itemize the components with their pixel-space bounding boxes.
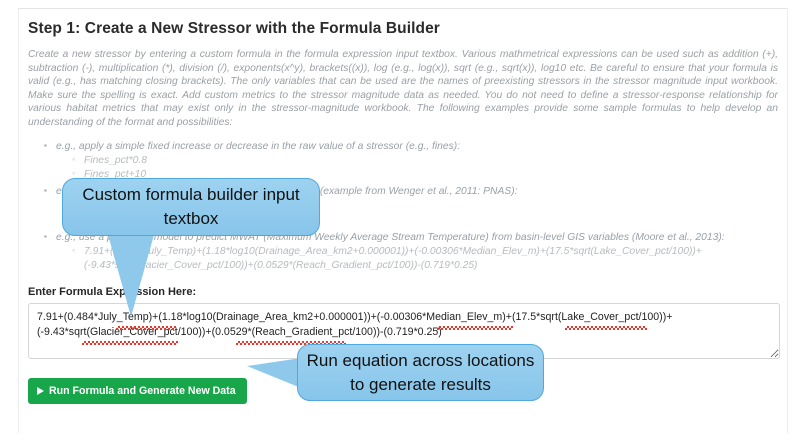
example-group-1: e.g., apply a simple fixed increase or d… (56, 140, 780, 182)
screenshot-root: Step 1: Create a New Stressor with the F… (0, 0, 805, 447)
page-title: Step 1: Create a New Stressor with the F… (28, 20, 780, 38)
callout-run-equation: Run equation across locations to generat… (297, 344, 544, 401)
run-formula-button-label: Run Formula and Generate New Data (49, 385, 236, 397)
example-items-1: Fines_pct*0.8 Fines_pct+10 (56, 154, 780, 181)
callout-formula-input: Custom formula builder input textbox (62, 178, 320, 236)
play-icon (37, 387, 44, 395)
list-item: 7.91+(0.484*July_Temp)+(1.18*log10(Drain… (84, 245, 780, 272)
callout-run-tail (247, 358, 301, 388)
intro-paragraph: Create a new stressor by entering a cust… (28, 48, 778, 130)
run-formula-button[interactable]: Run Formula and Generate New Data (28, 378, 247, 404)
example-items-3: 7.91+(0.484*July_Temp)+(1.18*log10(Drain… (56, 245, 780, 272)
example-group-3: e.g., use a published model to predict M… (56, 231, 780, 273)
example-lead-1: e.g., apply a simple fixed increase or d… (56, 141, 460, 152)
callout-formula-tail (108, 234, 154, 316)
list-item: Fines_pct*0.8 (84, 154, 780, 168)
